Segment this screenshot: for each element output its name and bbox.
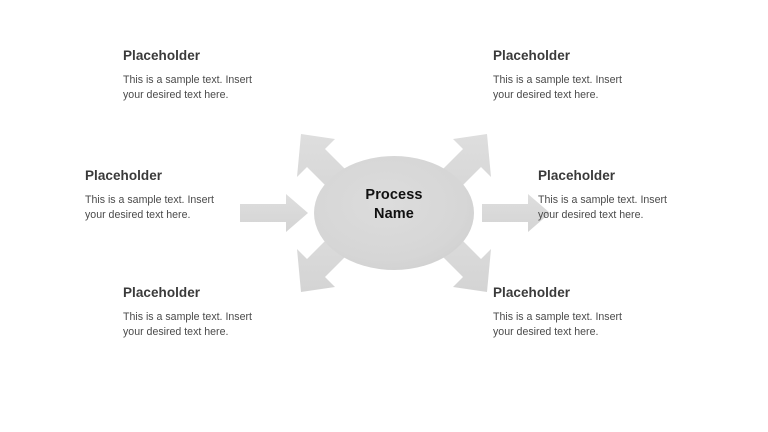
process-diagram[interactable]: Process Name bbox=[238, 128, 550, 298]
text-block-body: This is a sample text. Insert your desir… bbox=[493, 310, 673, 340]
text-block-body-line1: This is a sample text. Insert bbox=[85, 193, 265, 208]
text-block-title: Placeholder bbox=[493, 285, 673, 301]
process-name-line1: Process bbox=[345, 186, 443, 205]
text-block-middle-left[interactable]: Placeholder This is a sample text. Inser… bbox=[85, 168, 265, 223]
slide-canvas: Process Name Placeholder This is a sampl… bbox=[0, 0, 768, 432]
text-block-title: Placeholder bbox=[538, 168, 718, 184]
text-block-title: Placeholder bbox=[85, 168, 265, 184]
text-block-body-line1: This is a sample text. Insert bbox=[123, 73, 303, 88]
text-block-middle-right[interactable]: Placeholder This is a sample text. Inser… bbox=[538, 168, 718, 223]
text-block-body-line1: This is a sample text. Insert bbox=[493, 73, 673, 88]
text-block-body: This is a sample text. Insert your desir… bbox=[123, 310, 303, 340]
text-block-body: This is a sample text. Insert your desir… bbox=[123, 73, 303, 103]
text-block-title: Placeholder bbox=[123, 285, 303, 301]
text-block-body: This is a sample text. Insert your desir… bbox=[538, 193, 718, 223]
text-block-top-right[interactable]: Placeholder This is a sample text. Inser… bbox=[493, 48, 673, 103]
text-block-body-line1: This is a sample text. Insert bbox=[123, 310, 303, 325]
process-name-line2: Name bbox=[345, 205, 443, 224]
text-block-body-line2: your desired text here. bbox=[493, 325, 673, 340]
text-block-body-line1: This is a sample text. Insert bbox=[538, 193, 718, 208]
text-block-bottom-right[interactable]: Placeholder This is a sample text. Inser… bbox=[493, 285, 673, 340]
text-block-top-left[interactable]: Placeholder This is a sample text. Inser… bbox=[123, 48, 303, 103]
text-block-body-line1: This is a sample text. Insert bbox=[493, 310, 673, 325]
text-block-body-line2: your desired text here. bbox=[123, 325, 303, 340]
text-block-bottom-left[interactable]: Placeholder This is a sample text. Inser… bbox=[123, 285, 303, 340]
text-block-body-line2: your desired text here. bbox=[123, 88, 303, 103]
text-block-body-line2: your desired text here. bbox=[493, 88, 673, 103]
text-block-title: Placeholder bbox=[493, 48, 673, 64]
text-block-body: This is a sample text. Insert your desir… bbox=[493, 73, 673, 103]
text-block-body: This is a sample text. Insert your desir… bbox=[85, 193, 265, 223]
text-block-body-line2: your desired text here. bbox=[85, 208, 265, 223]
process-name-label: Process Name bbox=[345, 186, 443, 224]
text-block-body-line2: your desired text here. bbox=[538, 208, 718, 223]
text-block-title: Placeholder bbox=[123, 48, 303, 64]
